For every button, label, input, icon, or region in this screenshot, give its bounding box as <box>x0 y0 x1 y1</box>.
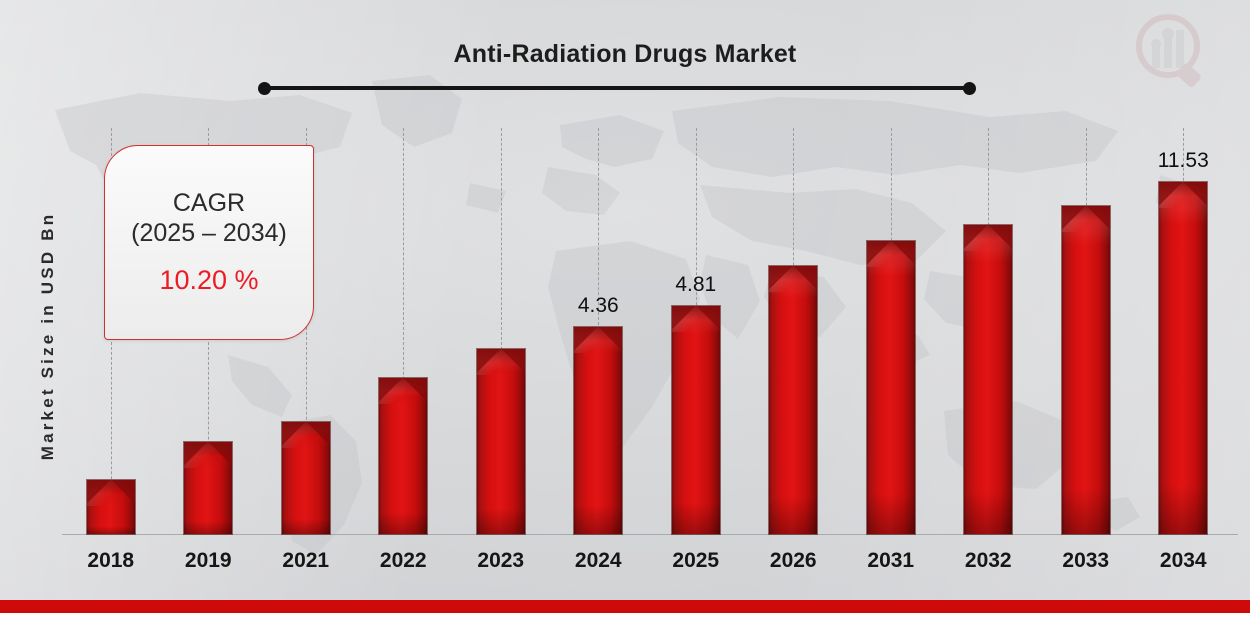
bar-top-facet-right <box>1183 182 1207 206</box>
x-axis-label-2026: 2026 <box>770 549 817 573</box>
bar-bevel <box>1062 206 1110 534</box>
bar-top-facet-left <box>867 241 891 265</box>
bar-2023[interactable] <box>477 349 525 534</box>
chart-panel: Anti-Radiation Drugs Market Market Size … <box>0 0 1250 600</box>
bar-2019[interactable] <box>184 442 232 534</box>
x-axis-label-2023: 2023 <box>477 549 524 573</box>
bar-value-label-2024: 4.36 <box>538 294 658 318</box>
bar-value-label-2025: 4.81 <box>636 273 756 297</box>
bar-2026[interactable] <box>769 266 817 534</box>
footer-accent-bar <box>0 600 1250 613</box>
bar-top-facet-right <box>598 327 622 351</box>
x-axis-label-2021: 2021 <box>282 549 329 573</box>
x-axis-label-2019: 2019 <box>185 549 232 573</box>
page-title: Anti-Radiation Drugs Market <box>0 40 1250 69</box>
bar-bevel <box>574 327 622 534</box>
bar-2034[interactable] <box>1159 182 1207 534</box>
bar-top-facet-left <box>574 327 598 351</box>
cagr-value: 10.20 % <box>159 265 258 296</box>
bar-top-facet-left <box>477 349 501 373</box>
connector-line <box>264 86 970 90</box>
x-axis-label-2034: 2034 <box>1160 549 1207 573</box>
bar-bevel <box>1159 182 1207 534</box>
bar-top-facet-right <box>1086 206 1110 230</box>
bar-top-facet-left <box>769 266 793 290</box>
bar-top-facet-left <box>87 480 111 504</box>
bar-top-facet-left <box>282 422 306 446</box>
bar-top-facet-left <box>184 442 208 466</box>
footer-whitespace <box>0 613 1250 624</box>
bar-top-facet-right <box>403 378 427 402</box>
x-axis-label-2031: 2031 <box>867 549 914 573</box>
bar-top-facet-right <box>696 306 720 330</box>
x-axis-label-2025: 2025 <box>672 549 719 573</box>
bar-top-facet-right <box>306 422 330 446</box>
bar-top-facet-left <box>964 225 988 249</box>
y-axis-title: Market Size in USD Bn <box>38 136 58 536</box>
bar-top-facet-left <box>379 378 403 402</box>
x-axis-baseline <box>62 534 1238 535</box>
bar-top-facet-right <box>111 480 135 504</box>
endpoint-dot-icon-right <box>963 82 976 95</box>
x-axis-label-2024: 2024 <box>575 549 622 573</box>
x-axis-label-2022: 2022 <box>380 549 427 573</box>
bar-2033[interactable] <box>1062 206 1110 534</box>
bar-top-facet-right <box>891 241 915 265</box>
cagr-title: CAGR <box>173 189 245 218</box>
bar-top-facet-right <box>988 225 1012 249</box>
bar-bevel <box>477 349 525 534</box>
x-axis-label-2033: 2033 <box>1062 549 1109 573</box>
cagr-range: (2025 – 2034) <box>131 219 287 248</box>
bar-2032[interactable] <box>964 225 1012 534</box>
cagr-callout: CAGR (2025 – 2034) 10.20 % <box>104 145 314 340</box>
bar-2021[interactable] <box>282 422 330 534</box>
bar-top-facet-left <box>1062 206 1086 230</box>
bar-bevel <box>867 241 915 534</box>
bar-top-facet-left <box>672 306 696 330</box>
bar-top-facet-right <box>208 442 232 466</box>
bar-2031[interactable] <box>867 241 915 534</box>
bar-top-facet-right <box>501 349 525 373</box>
bar-2022[interactable] <box>379 378 427 534</box>
x-axis-label-2018: 2018 <box>87 549 134 573</box>
bar-bevel <box>769 266 817 534</box>
bar-2018[interactable] <box>87 480 135 534</box>
x-axis-label-2032: 2032 <box>965 549 1012 573</box>
bar-value-label-2034: 11.53 <box>1123 149 1243 173</box>
timeline-connector <box>258 82 976 94</box>
bar-top-facet-right <box>793 266 817 290</box>
bar-2024[interactable] <box>574 327 622 534</box>
chart-page: Anti-Radiation Drugs Market Market Size … <box>0 0 1250 624</box>
bar-top-facet-left <box>1159 182 1183 206</box>
bar-bevel <box>964 225 1012 534</box>
bar-2025[interactable] <box>672 306 720 534</box>
bar-bevel <box>672 306 720 534</box>
